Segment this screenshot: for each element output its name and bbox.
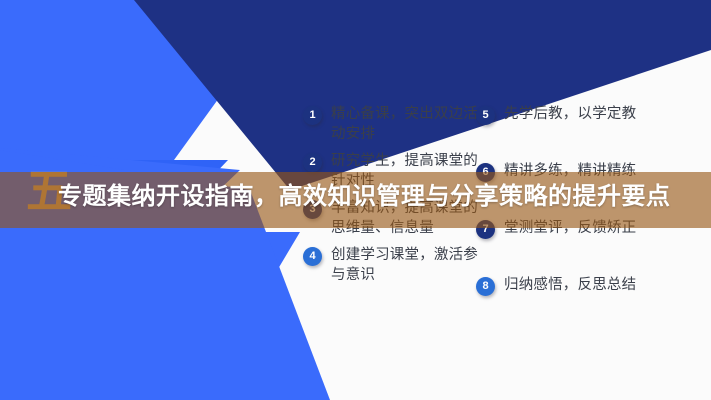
point-badge-4: 4 [303, 247, 322, 266]
page-title: 专题集纳开设指南，高效知识管理与分享策略的提升要点 [58, 181, 698, 213]
point-badge-1: 1 [303, 106, 322, 125]
list-item: 4 创建学习课堂，激活参与意识 [303, 245, 478, 285]
list-item: 1 精心备课，突出双边活动安排 [303, 104, 478, 144]
slide-canvas: 五 1 精心备课，突出双边活动安排 2 研究学生，提高课堂的针对性 3 丰富知识… [0, 0, 711, 400]
point-badge-2: 2 [303, 153, 322, 172]
list-item: 5 先学后教，以学定教 [476, 104, 706, 125]
point-text-4: 创建学习课堂，激活参与意识 [331, 245, 478, 285]
point-text-8: 归纳感悟，反思总结 [504, 275, 636, 295]
point-text-1: 精心备课，突出双边活动安排 [331, 104, 478, 144]
point-badge-5: 5 [476, 106, 495, 125]
point-text-5: 先学后教，以学定教 [504, 104, 636, 124]
list-item: 8 归纳感悟，反思总结 [476, 275, 706, 296]
point-badge-8: 8 [476, 277, 495, 296]
